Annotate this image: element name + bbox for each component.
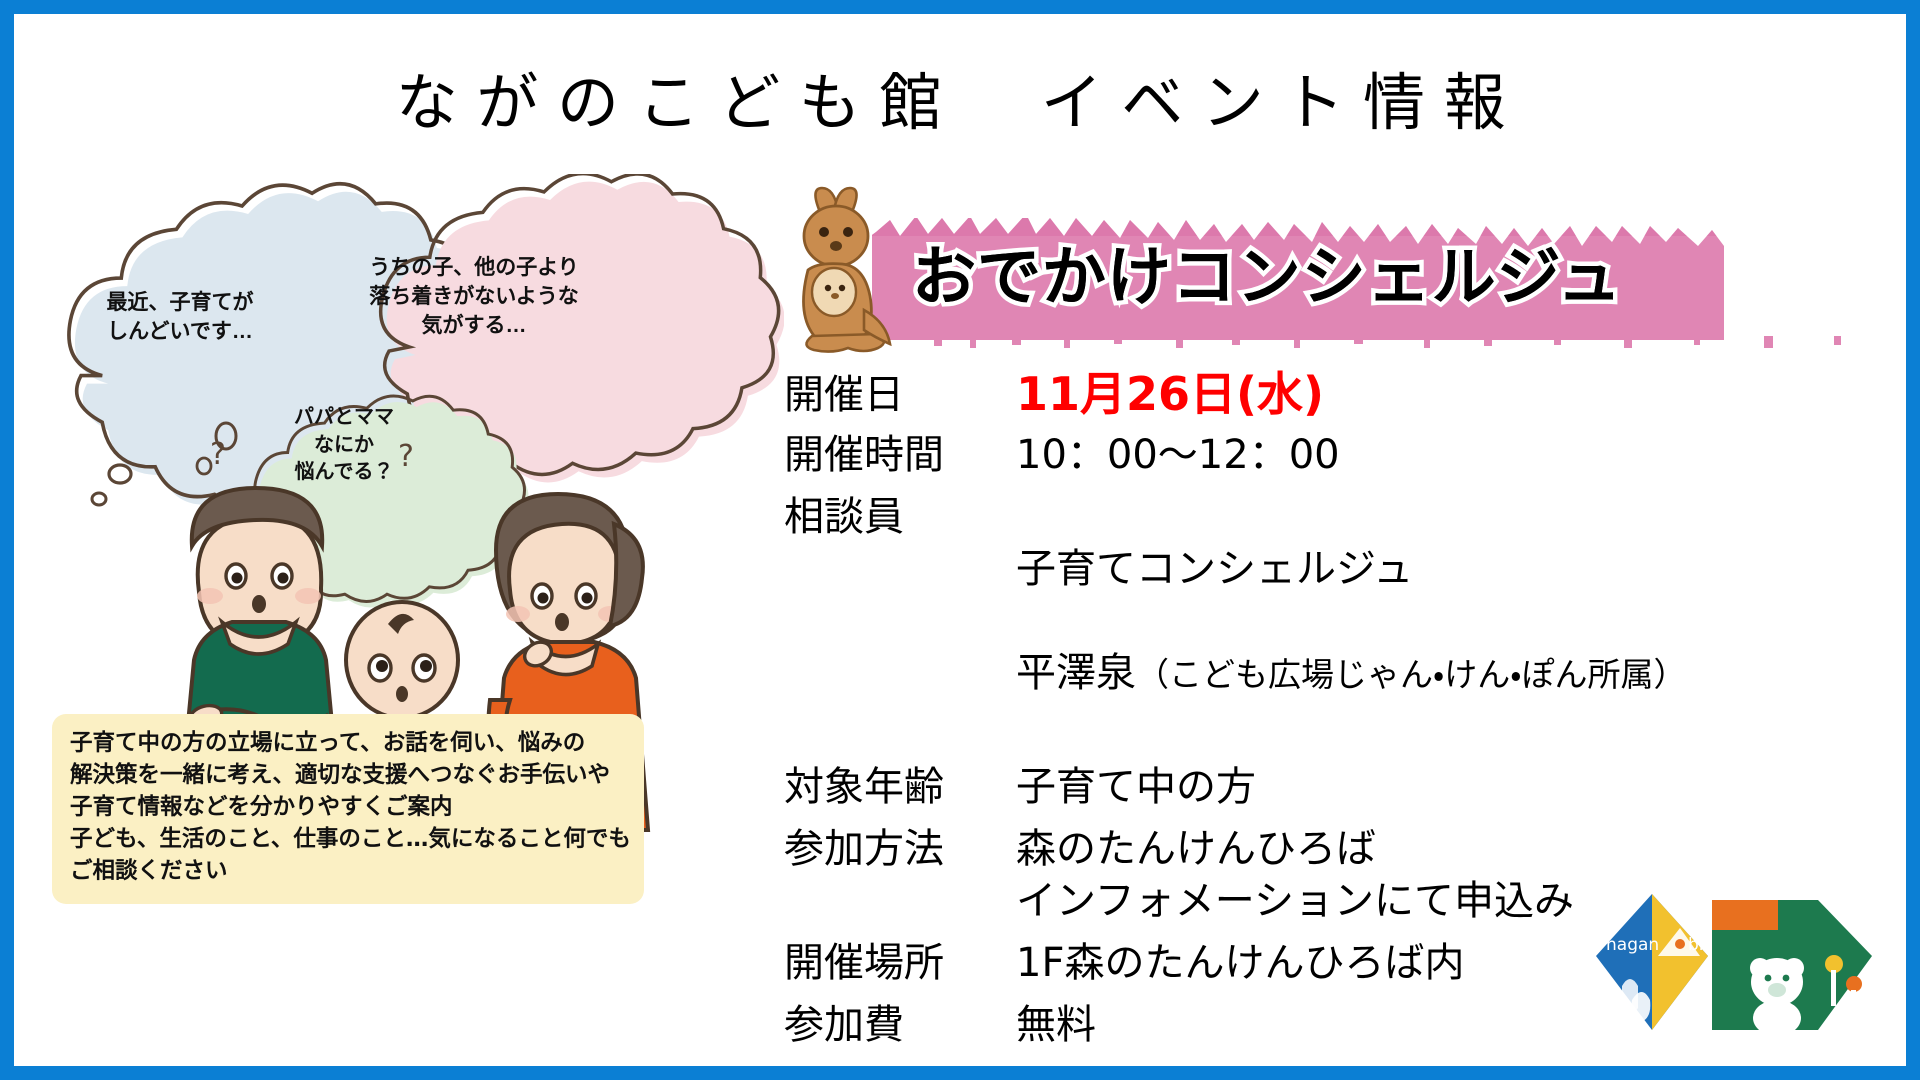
logo-text-bi: bi: [1688, 935, 1704, 955]
poster-canvas: ながのこども館 イベント情報: [14, 14, 1906, 1066]
kangaroo-icon: [764, 184, 914, 364]
detail-label: 開催場所: [784, 937, 1016, 989]
detail-row-time: 開催時間 10：00〜12：00: [784, 429, 1906, 481]
counselor-role: 子育てコンシェルジュ: [1016, 543, 1906, 595]
event-banner: おでかけコンシェルジュ おでかけコンシェルジュ: [784, 198, 1906, 348]
illustration-area: ? ? ? 最近、子育てが しんどいです… うちの子、他の子より 落ち着きがない…: [14, 174, 784, 1064]
info-line: 子ども、生活のこと、仕事のこと…気になること何でも: [70, 824, 628, 856]
detail-label: 開催時間: [784, 429, 1016, 481]
info-box: 子育て中の方の立場に立って、お話を伺い、悩みの 解決策を一緒に考え、適切な支援へ…: [52, 714, 644, 904]
event-info-panel: おでかけコンシェルジュ おでかけコンシェルジュ 開催日 11月26日(水) 開催…: [784, 174, 1906, 1064]
detail-row-age: 対象年齢 子育て中の方: [784, 761, 1906, 813]
detail-value: 10：00〜12：00: [1016, 429, 1906, 481]
bubble-child-compare-text: うちの子、他の子より 落ち着きがないような 気がする…: [339, 254, 609, 341]
detail-label: 参加費: [784, 999, 1016, 1051]
detail-label: 開催日: [784, 369, 1016, 421]
bubble-parent-tired-text: 最近、子育てが しんどいです…: [60, 289, 300, 347]
info-line: ご相談ください: [70, 856, 628, 888]
detail-value: 11月26日(水): [1016, 369, 1906, 421]
detail-label: 対象年齢: [784, 761, 1016, 813]
info-line: 子育て情報などを分かりやすくご案内: [70, 792, 628, 824]
logo-text: nagan: [1606, 935, 1659, 955]
bubble-baby-worry-text: パパとママ なにか 悩んでる？: [269, 404, 419, 487]
detail-value: 子育て中の方: [1016, 761, 1906, 813]
detail-label: 相談員: [784, 491, 1016, 543]
page-title: ながのこども館 イベント情報: [14, 52, 1906, 142]
detail-value: 子育てコンシェルジュ 平澤泉（こども広場じゃん・けん・ぽん所属）: [1016, 491, 1906, 751]
counselor-affiliation: （こども広場じゃん・けん・ぽん所属）: [1136, 655, 1686, 694]
detail-label: 参加方法: [784, 823, 1016, 875]
banner-title: おでかけコンシェルジュ: [912, 226, 1892, 318]
detail-row-date: 開催日 11月26日(水): [784, 369, 1906, 421]
counselor-name: 平澤泉: [1016, 650, 1136, 696]
counselor-name-line: 平澤泉（こども広場じゃん・けん・ぽん所属）: [1016, 647, 1906, 699]
nagano-bi-logo: nagan bi: [1588, 860, 1888, 1050]
info-line: 子育て中の方の立場に立って、お話を伺い、悩みの: [70, 728, 628, 760]
info-line: 解決策を一緒に考え、適切な支援へつなぐお手伝いや: [70, 760, 628, 792]
detail-row-counselor: 相談員 子育てコンシェルジュ 平澤泉（こども広場じゃん・けん・ぽん所属）: [784, 491, 1906, 751]
